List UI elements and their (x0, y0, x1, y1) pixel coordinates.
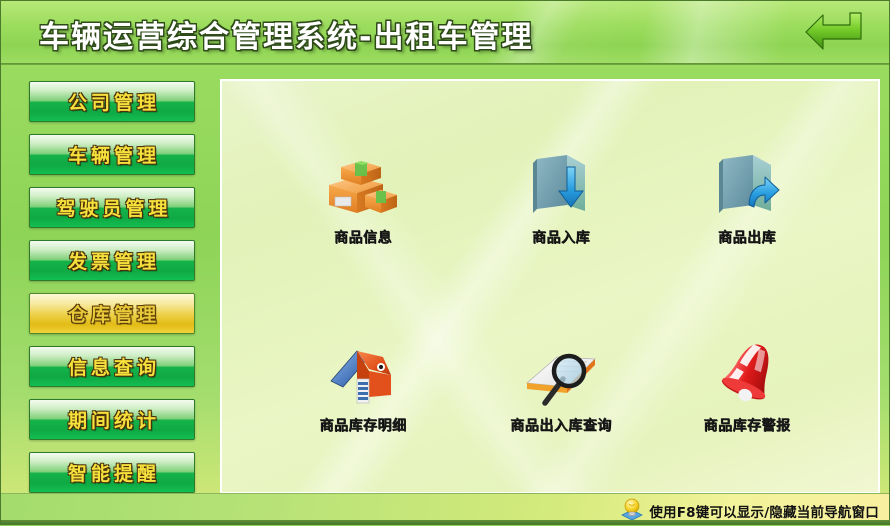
tile-label: 商品库存明细 (320, 415, 407, 435)
tile-label: 商品库存警报 (704, 415, 791, 435)
tile-stock-query[interactable]: 商品出入库查询 (486, 333, 636, 435)
page-title: 车辆运营综合管理系统-出租车管理 (39, 12, 533, 56)
sidebar-item-label: 驾驶员管理 (52, 194, 171, 221)
shortcut-grid: 商品信息 (222, 81, 878, 492)
content-panel: 商品信息 (220, 79, 880, 494)
sidebar-item-company[interactable]: 公司管理 (29, 81, 195, 122)
return-arrow-icon[interactable] (803, 9, 865, 55)
boxes-icon (318, 145, 408, 221)
tile-label: 商品信息 (334, 227, 392, 247)
tile-stock-out[interactable]: 商品出库 (672, 145, 822, 247)
sidebar-item-vehicle[interactable]: 车辆管理 (29, 134, 195, 175)
tile-stock-in[interactable]: 商品入库 (486, 145, 636, 247)
warehouse-house-icon (318, 333, 408, 409)
title-bar: 车辆运营综合管理系统-出租车管理 (1, 1, 889, 65)
folder-out-icon (702, 145, 792, 221)
status-text: 使用F8键可以显示/隐藏当前导航窗口 (649, 501, 879, 521)
sidebar-item-invoice[interactable]: 发票管理 (29, 240, 195, 281)
tile-label: 商品出库 (718, 227, 776, 247)
sidebar-item-label: 智能提醒 (64, 459, 160, 486)
application-window: 车辆运营综合管理系统-出租车管理 公司管理 车辆管理 驾驶员管理 发票管理 仓库… (0, 0, 890, 525)
sidebar-item-label: 发票管理 (64, 247, 160, 274)
sidebar-item-label: 信息查询 (64, 353, 160, 380)
tile-inventory-alarm[interactable]: 商品库存警报 (672, 333, 822, 435)
sidebar-item-driver[interactable]: 驾驶员管理 (29, 187, 195, 228)
book-magnifier-icon (516, 333, 606, 409)
sidebar-item-statistics[interactable]: 期间统计 (29, 399, 195, 440)
window-bottom-border (1, 520, 890, 524)
sidebar-item-label: 仓库管理 (64, 300, 160, 327)
sidebar-item-label: 公司管理 (64, 88, 160, 115)
tile-label: 商品入库 (532, 227, 590, 247)
alarm-bell-icon (702, 333, 792, 409)
sidebar-item-reminder[interactable]: 智能提醒 (29, 452, 195, 493)
sidebar-item-label: 期间统计 (64, 406, 160, 433)
tile-product-info[interactable]: 商品信息 (288, 145, 438, 247)
sidebar-item-warehouse[interactable]: 仓库管理 (29, 293, 195, 334)
folder-in-icon (516, 145, 606, 221)
sidebar-nav: 公司管理 车辆管理 驾驶员管理 发票管理 仓库管理 信息查询 期间统计 智能提醒 (1, 67, 219, 492)
sidebar-item-query[interactable]: 信息查询 (29, 346, 195, 387)
tile-label: 商品出入库查询 (510, 415, 612, 435)
sidebar-item-label: 车辆管理 (64, 141, 160, 168)
tile-inventory-detail[interactable]: 商品库存明细 (288, 333, 438, 435)
